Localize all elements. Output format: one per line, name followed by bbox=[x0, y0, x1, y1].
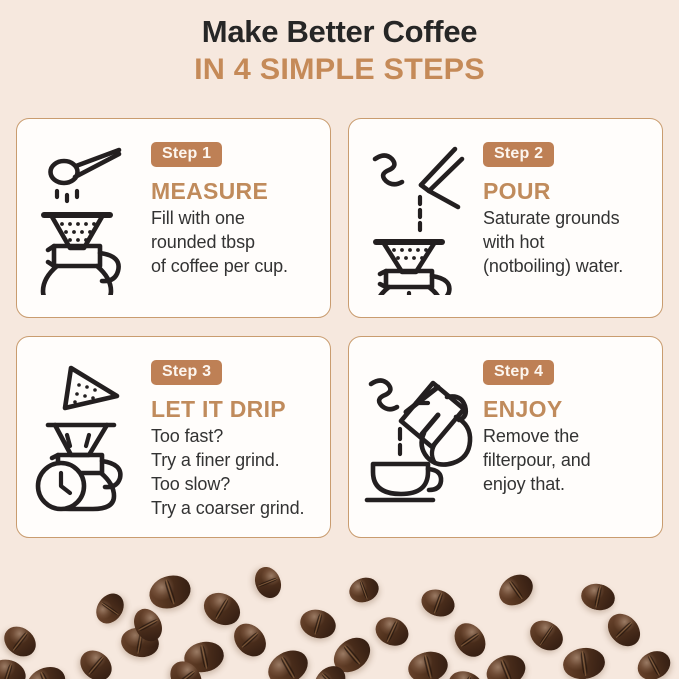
step-card-1-body: Step 1 MEASURE Fill with one rounded tbs… bbox=[151, 129, 322, 279]
coffee-bean bbox=[250, 563, 285, 602]
step-description-3: Too fast? Try a finer grind. Too slow? T… bbox=[151, 425, 318, 521]
coffee-bean bbox=[524, 615, 568, 657]
coffee-bean bbox=[74, 644, 117, 679]
coffee-bean bbox=[91, 588, 130, 629]
step-title-1: MEASURE bbox=[151, 179, 318, 204]
coffee-bean bbox=[418, 585, 459, 621]
coffee-bean bbox=[22, 661, 71, 679]
spoon-and-chemex-icon bbox=[23, 143, 151, 295]
coffee-bean bbox=[579, 581, 618, 614]
coffee-bean bbox=[0, 620, 42, 662]
step-title-4: ENJOY bbox=[483, 397, 650, 422]
step-card-3-body: Step 3 LET IT DRIP Too fast? Try a finer… bbox=[151, 347, 322, 521]
coffee-beans-decoration bbox=[0, 556, 679, 679]
coffee-bean bbox=[145, 570, 195, 613]
kettle-pour-chemex-icon bbox=[355, 143, 483, 295]
coffee-bean bbox=[448, 617, 492, 663]
step-card-2-body: Step 2 POUR Saturate grounds with hot (n… bbox=[483, 129, 654, 279]
step-badge-1: Step 1 bbox=[151, 142, 222, 167]
coffee-infographic: Make Better Coffee IN 4 SIMPLE STEPS bbox=[0, 0, 679, 679]
step-card-4-body: Step 4 ENJOY Remove the filterpour, and … bbox=[483, 347, 654, 497]
step-title-3: LET IT DRIP bbox=[151, 397, 318, 422]
step-badge-3: Step 3 bbox=[151, 360, 222, 385]
coffee-bean bbox=[444, 666, 488, 679]
step-description-4: Remove the filterpour, and enjoy that. bbox=[483, 425, 650, 497]
page-subtitle: IN 4 SIMPLE STEPS bbox=[0, 52, 679, 87]
step-badge-2: Step 2 bbox=[483, 142, 554, 167]
filter-clock-chemex-icon bbox=[23, 361, 151, 515]
step-card-4: Step 4 ENJOY Remove the filterpour, and … bbox=[348, 336, 663, 538]
steps-grid: Step 1 MEASURE Fill with one rounded tbs… bbox=[16, 118, 663, 538]
step-description-1: Fill with one rounded tbsp of coffee per… bbox=[151, 207, 318, 279]
step-card-2: Step 2 POUR Saturate grounds with hot (n… bbox=[348, 118, 663, 318]
coffee-bean bbox=[228, 617, 273, 662]
step-title-2: POUR bbox=[483, 179, 650, 204]
coffee-bean bbox=[405, 648, 451, 679]
coffee-bean bbox=[297, 606, 339, 643]
step-description-2: Saturate grounds with hot (notboiling) w… bbox=[483, 207, 650, 279]
coffee-bean bbox=[346, 574, 382, 607]
coffee-bean bbox=[601, 607, 646, 652]
coffee-bean bbox=[371, 612, 413, 651]
step-card-3: Step 3 LET IT DRIP Too fast? Try a finer… bbox=[16, 336, 331, 538]
coffee-bean bbox=[0, 655, 29, 679]
header: Make Better Coffee IN 4 SIMPLE STEPS bbox=[0, 14, 679, 87]
coffee-bean bbox=[482, 650, 530, 679]
coffee-bean bbox=[633, 646, 676, 679]
page-title: Make Better Coffee bbox=[0, 14, 679, 50]
coffee-bean bbox=[561, 645, 607, 679]
coffee-bean bbox=[493, 568, 539, 612]
coffee-bean bbox=[262, 644, 314, 679]
chemex-pouring-cup-icon bbox=[355, 367, 483, 509]
step-card-1: Step 1 MEASURE Fill with one rounded tbs… bbox=[16, 118, 331, 318]
step-badge-4: Step 4 bbox=[483, 360, 554, 385]
